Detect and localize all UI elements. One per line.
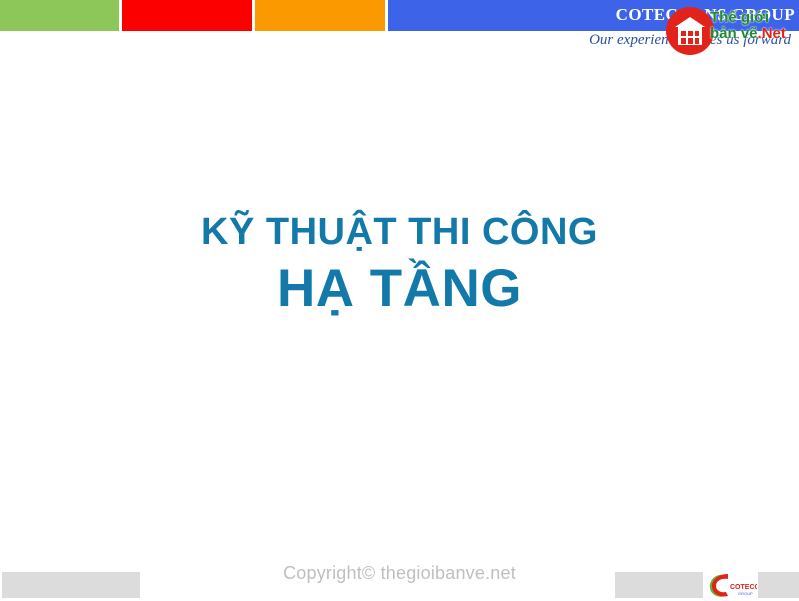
title-line-2: HẠ TẦNG xyxy=(0,258,799,320)
slide-canvas: COTECCONS GROUP Our experience drives us… xyxy=(0,0,799,601)
coteccons-logo-text: COTECCONS xyxy=(730,584,757,591)
watermark-line2-text: bản vẽ xyxy=(710,25,758,42)
top-bar-green xyxy=(0,0,119,31)
coteccons-logo-sub: GROUP xyxy=(738,591,753,596)
copyright-text: Copyright© thegioibanve.net xyxy=(0,563,799,584)
watermark-line1: Thế giới xyxy=(710,10,786,26)
watermark: Thế giới bản vẽ.Net xyxy=(666,6,799,56)
house-icon xyxy=(674,16,706,46)
watermark-suffix: .Net xyxy=(758,25,786,42)
top-bar-red xyxy=(122,0,252,31)
page-title: KỸ THUẬT THI CÔNG HẠ TẦNG xyxy=(0,206,799,320)
watermark-text: Thế giới bản vẽ.Net xyxy=(710,10,786,42)
title-line-1: KỸ THUẬT THI CÔNG xyxy=(0,206,799,258)
watermark-line2: bản vẽ.Net xyxy=(710,26,786,42)
top-bar-orange xyxy=(255,0,385,31)
